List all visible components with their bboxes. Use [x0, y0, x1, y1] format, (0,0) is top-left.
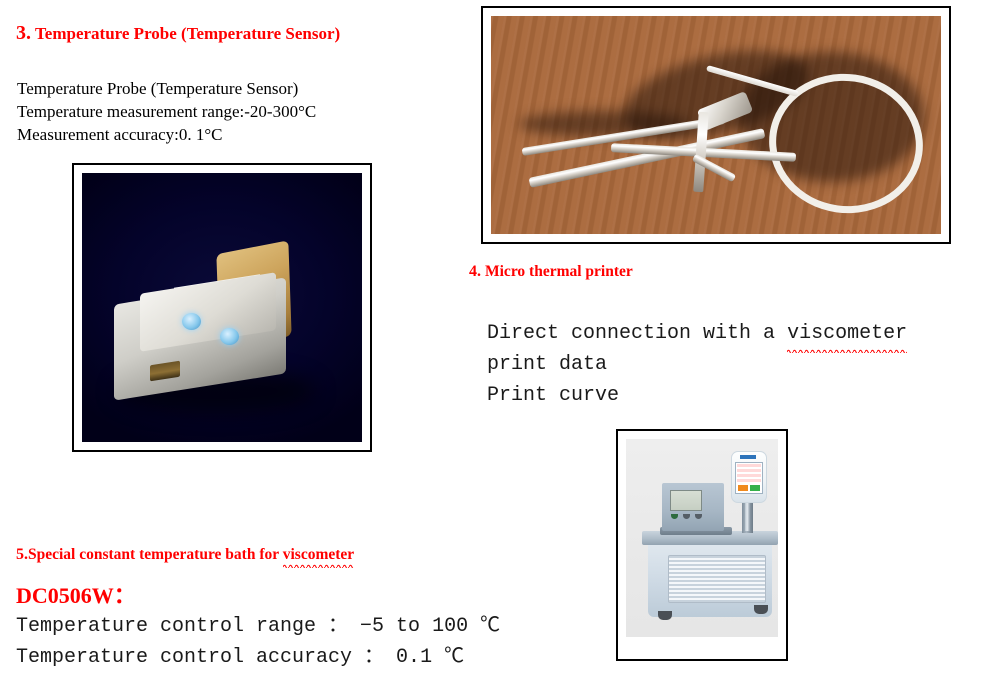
- section-5-number: 5.: [16, 546, 28, 563]
- viscometer-touchscreen: [735, 462, 763, 494]
- viscometer-screen-button-orange: [738, 485, 748, 491]
- section-4-heading: 4. Micro thermal printer: [469, 263, 633, 281]
- printer-feature-text: Direct connection with a: [487, 322, 787, 345]
- printer-feature-line-3: Print curve: [487, 380, 619, 411]
- bath-model-label: DC0506W：: [16, 583, 136, 608]
- temperature-probe-photo: [491, 16, 941, 234]
- bath-spec-line-2: Temperature control accuracy ： 0.1 ℃: [16, 643, 464, 673]
- micro-thermal-printer-photo-frame: [72, 163, 372, 452]
- probe-spec-line-2: Temperature measurement range:-20-300°C: [17, 100, 316, 123]
- section-5-title: Special constant temperature bath for: [28, 546, 283, 563]
- bath-spec-line-1: Temperature control range ： −5 to 100 ℃: [16, 612, 500, 642]
- printer-feature-line-1: Direct connection with a viscometer: [487, 318, 907, 349]
- viscometer-screen-button-green: [750, 485, 760, 491]
- bath-foot-right: [754, 605, 768, 614]
- bath-model-number: DC0506W：: [16, 578, 136, 610]
- section-3-title: Temperature Probe (Temperature Sensor): [35, 24, 340, 43]
- section-5-heading: 5.Special constant temperature bath for …: [16, 546, 354, 564]
- probe-spec-line-3: Measurement accuracy:0. 1°C: [17, 123, 223, 146]
- section-4-title: Micro thermal printer: [485, 263, 633, 280]
- printer-button-power: [220, 328, 239, 345]
- viscometer-brand-logo: [740, 455, 756, 459]
- temperature-probe-photo-frame: [481, 6, 951, 244]
- section-3-heading: 3. Temperature Probe (Temperature Sensor…: [16, 22, 340, 45]
- bath-foot-left: [658, 611, 672, 620]
- micro-thermal-printer-photo: [82, 173, 362, 442]
- printer-feature-line-2: print data: [487, 349, 607, 380]
- viscometer-screen-rows: [737, 464, 761, 484]
- section-4-number: 4.: [469, 263, 481, 280]
- bath-ventilation-grille: [668, 555, 766, 603]
- constant-temperature-bath-photo: [626, 439, 778, 637]
- viscometer-misspelled-word: viscometer: [787, 318, 907, 349]
- bath-display: [670, 490, 702, 511]
- constant-temperature-bath-photo-frame: [616, 429, 788, 661]
- printer-button-feed: [182, 313, 201, 330]
- viscometer-misspelled-word-heading: viscometer: [283, 546, 354, 564]
- probe-spec-line-1: Temperature Probe (Temperature Sensor): [17, 77, 298, 100]
- section-3-number: 3.: [16, 22, 31, 44]
